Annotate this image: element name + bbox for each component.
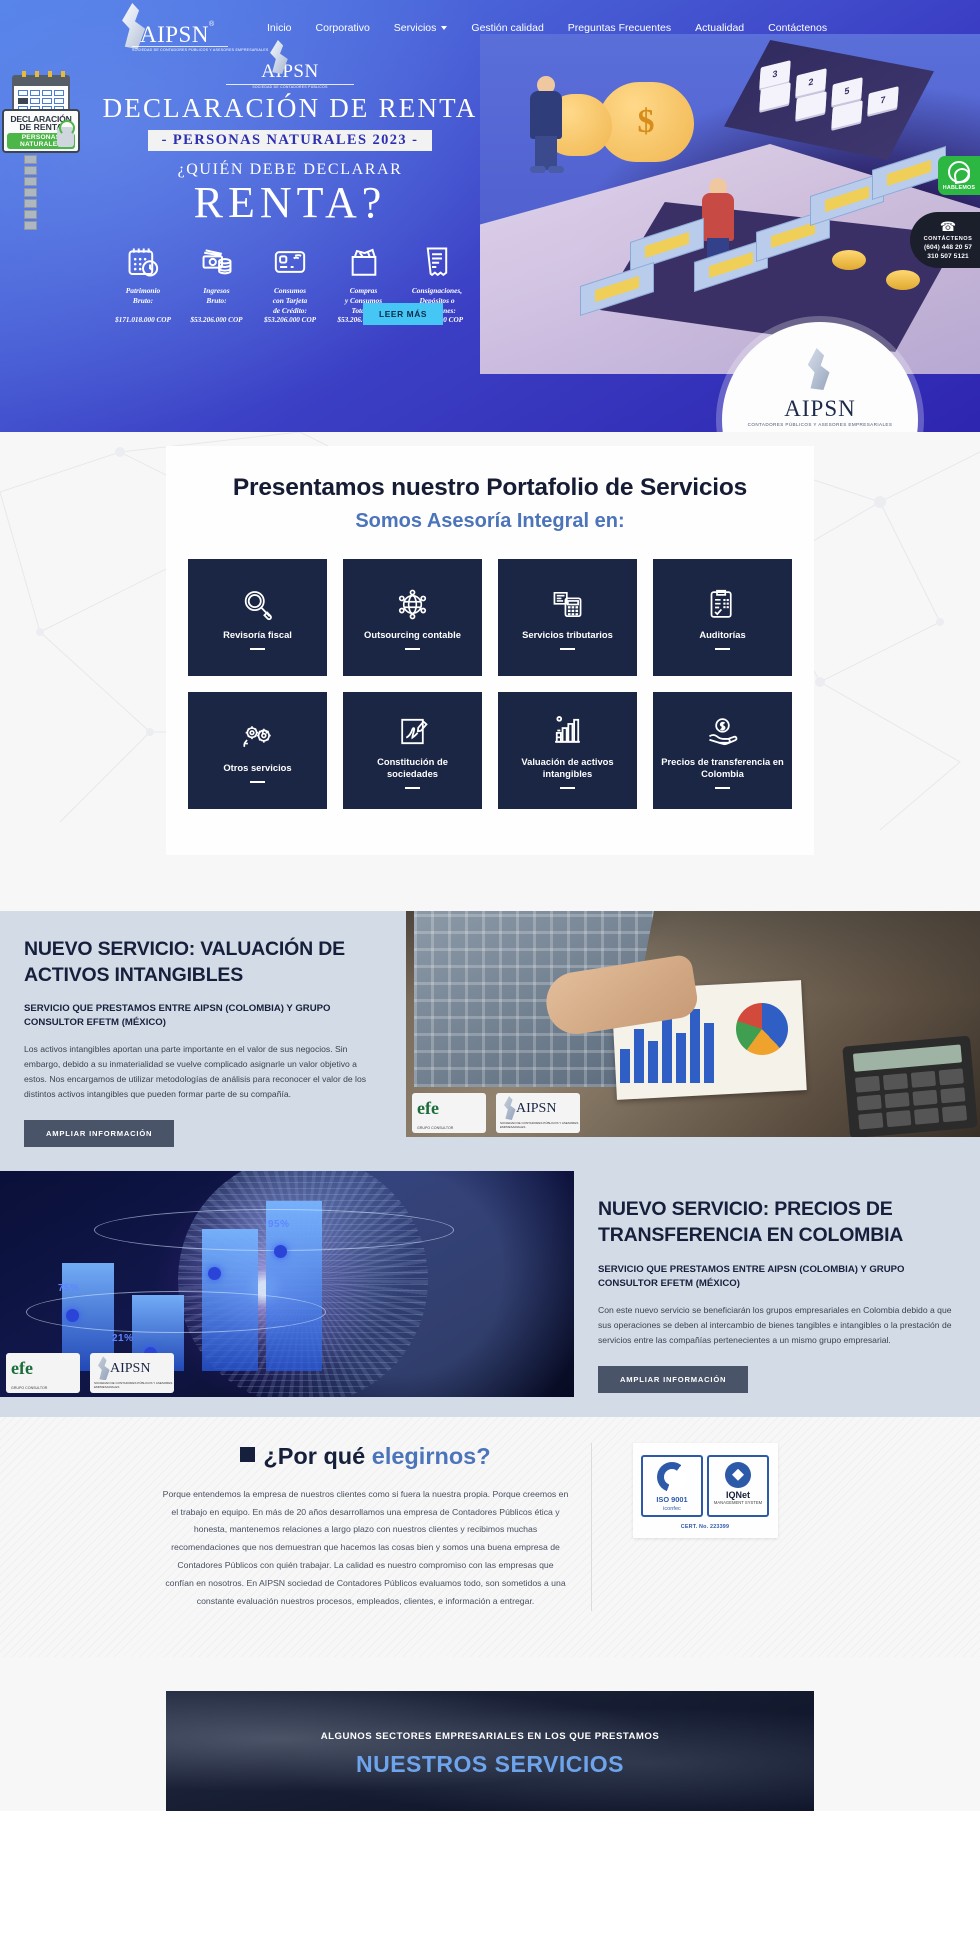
meeting-charts-photo: efe GRUPO CONSULTOR AIPSN SOCIEDAD DE CO…: [406, 911, 980, 1137]
chevron-down-icon: [441, 26, 447, 30]
new-service-kicker: SERVICIO QUE PRESTAMOS ENTRE AIPSN (COLO…: [24, 1002, 380, 1030]
signed-document-icon: [396, 712, 429, 752]
nav-label: Gestión calidad: [471, 0, 543, 56]
iqnet-sub-label: MANAGEMENT SYSTEM: [711, 1500, 765, 1505]
service-card-valuacion-de-activos-intangibles[interactable]: Valuación de activos intangibles: [498, 692, 637, 809]
iqnet-mark-icon: [725, 1462, 751, 1488]
nav-item-contactenos[interactable]: Contáctenos: [756, 0, 839, 56]
efe-logo-text: efe: [417, 1098, 439, 1119]
contact-title: CONTÁCTENOS: [920, 236, 976, 242]
declaracion-renta-badge[interactable]: DECLARACIÓN DE RENTA PERSONAS NATURALES: [2, 75, 80, 232]
portfolio-card: Presentamos nuestro Portafolio de Servic…: [166, 446, 814, 855]
calc-key: 7: [867, 86, 898, 115]
bar-chart-icon: [551, 712, 584, 752]
criteria-label: PatrimonioBruto:: [110, 286, 176, 306]
nav-item-servicios[interactable]: Servicios: [382, 0, 460, 56]
iqnet-box: IQNet MANAGEMENT SYSTEM: [707, 1455, 769, 1517]
portfolio-section: Presentamos nuestro Portafolio de Servic…: [0, 432, 980, 911]
service-label: Servicios tributarios: [522, 629, 613, 641]
magnifier-icon: [241, 585, 274, 625]
contact-phone-1[interactable]: (604) 448 20 57: [920, 244, 976, 251]
network-globe-icon: [396, 585, 429, 625]
service-card-revisoria-fiscal[interactable]: Revisoría fiscal: [188, 559, 327, 676]
service-underline: [405, 787, 420, 789]
money-bag-icon: $: [598, 82, 694, 162]
gears-people-icon: [241, 718, 274, 758]
cash-coins-icon: [184, 240, 250, 284]
iqnet-label: IQNet: [711, 1490, 765, 1500]
credit-card-icon: [257, 240, 323, 284]
contact-float-panel[interactable]: ☎ CONTÁCTENOS (604) 448 20 57 310 507 51…: [910, 212, 980, 268]
service-card-constitucion-de-sociedades[interactable]: Constitución de sociedades: [343, 692, 482, 809]
service-label: Auditorías: [699, 629, 745, 641]
services-grid: Revisoría fiscal Outsourcing contable: [188, 559, 792, 809]
service-label: Otros servicios: [223, 762, 291, 774]
service-underline: [405, 648, 420, 650]
criteria-amount: $53.206.000 COP: [184, 316, 250, 324]
service-underline: [250, 648, 265, 650]
circle-logo-name: AIPSN: [722, 396, 918, 422]
hero-logo-name: AIPSN: [140, 61, 440, 83]
ampliar-informacion-button[interactable]: AMPLIAR INFORMACIÓN: [598, 1366, 748, 1393]
why-us-inner: ¿Por qué elegirnos? Porque entendemos la…: [162, 1443, 818, 1611]
aipsn-logo-text: AIPSN: [516, 1101, 556, 1117]
sectors-section: ALGUNOS SECTORES EMPRESARIALES EN LOS QU…: [0, 1657, 980, 1811]
clipboard-check-icon: [706, 585, 739, 625]
photo-pct-label: 95%: [268, 1219, 290, 1230]
hero-logo-sub: SOCIEDAD DE CONTADORES PÚBLICOS: [140, 85, 440, 89]
efe-logo: efe GRUPO CONSULTOR: [412, 1093, 486, 1133]
iso-badge-row: ISO 9001 iconfec IQNet MANAGEMENT SYSTEM: [641, 1455, 770, 1517]
sectors-kicker: ALGUNOS SECTORES EMPRESARIALES EN LOS QU…: [166, 1691, 814, 1742]
coin-icon: [832, 250, 866, 270]
why-us-section: ¿Por qué elegirnos? Porque entendemos la…: [0, 1417, 980, 1657]
nav-item-gestion-calidad[interactable]: Gestión calidad: [459, 0, 555, 56]
calculator-document-icon: [551, 585, 584, 625]
top-navigation: AIPSN ® SOCIEDAD DE CONTADORES PÚBLICOS …: [0, 0, 980, 56]
nav-menu: Inicio Corporativo Servicios Gestión cal…: [255, 0, 839, 56]
nav-label: Inicio: [267, 0, 292, 56]
why-us-text-column: ¿Por qué elegirnos? Porque entendemos la…: [162, 1443, 592, 1611]
service-underline: [715, 787, 730, 789]
sectors-title: NUESTROS SERVICIOS: [166, 1751, 814, 1778]
photo-logo-row: efe GRUPO CONSULTOR AIPSN SOCIEDAD DE CO…: [412, 1093, 580, 1133]
badge-plate: DECLARACIÓN DE RENTA PERSONAS NATURALES: [2, 109, 80, 153]
service-underline: [560, 787, 575, 789]
why-us-heading-dark: ¿Por qué: [263, 1443, 371, 1469]
service-label: Constitución de sociedades: [351, 756, 474, 780]
nav-item-corporativo[interactable]: Corporativo: [304, 0, 382, 56]
film-strip-decoration: [24, 155, 37, 230]
aipsn-logo-text: AIPSN: [110, 1361, 150, 1377]
service-underline: [250, 781, 265, 783]
criteria-amount: $171.018.000 COP: [110, 316, 176, 324]
new-service-kicker: SERVICIO QUE PRESTAMOS ENTRE AIPSN (COLO…: [598, 1263, 954, 1291]
brand-registered-icon: ®: [209, 21, 214, 28]
criteria-label: Consumoscon Tarjetade Crédito:: [257, 286, 323, 316]
efe-logo-sub: GRUPO CONSULTOR: [11, 1386, 47, 1390]
square-bullet-icon: [240, 1447, 255, 1462]
contact-phone-2[interactable]: 310 507 5121: [920, 253, 976, 260]
why-us-heading-accent: elegirnos?: [372, 1443, 491, 1469]
nav-label: Actualidad: [695, 0, 744, 56]
service-label: Valuación de activos intangibles: [506, 756, 629, 780]
leer-mas-button[interactable]: LEER MÁS: [363, 303, 443, 325]
iso-body-label: iconfec: [645, 1506, 699, 1512]
new-service-heading: NUEVO SERVICIO: VALUACIÓN DE ACTIVOS INT…: [24, 937, 380, 988]
cursor-hand-icon: [57, 127, 74, 147]
iso-certification-badge: ISO 9001 iconfec IQNet MANAGEMENT SYSTEM…: [633, 1443, 778, 1538]
brand-name: AIPSN: [140, 22, 209, 48]
new-service-body: Con este nuevo servicio se beneficiarán …: [598, 1303, 954, 1348]
photo-pct-label: 21%: [112, 1333, 134, 1344]
nav-label: Corporativo: [316, 0, 370, 56]
nav-label: Preguntas Frecuentes: [568, 0, 671, 56]
hero-banner: 3 2 5 7 $ AIPSN CONTADORES PÚBLIC: [0, 0, 980, 432]
service-card-outsourcing-contable[interactable]: Outsourcing contable: [343, 559, 482, 676]
aipsn-mark-icon: [803, 348, 837, 390]
nav-item-inicio[interactable]: Inicio: [255, 0, 304, 56]
brand-tagline: SOCIEDAD DE CONTADORES PÚBLICOS Y ASESOR…: [132, 48, 268, 52]
portfolio-title: Presentamos nuestro Portafolio de Servic…: [188, 474, 792, 502]
nav-item-preguntas-frecuentes[interactable]: Preguntas Frecuentes: [556, 0, 683, 56]
hero-big-word: RENTA?: [0, 177, 580, 228]
iso-9001-box: ISO 9001 iconfec: [641, 1455, 703, 1517]
whatsapp-label: HABLEMOS: [940, 185, 978, 191]
efe-logo: efe GRUPO CONSULTOR: [6, 1353, 80, 1393]
globe-bars-photo: 75% 21% 95% efe GRUPO CONSULTOR AIPSN SO…: [0, 1171, 574, 1397]
criteria-column: Consumoscon Tarjetade Crédito:: [257, 240, 323, 316]
new-service-heading: NUEVO SERVICIO: PRECIOS DE TRANSFERENCIA…: [598, 1197, 954, 1248]
criteria-column: PatrimonioBruto:: [110, 240, 176, 316]
shopping-bag-icon: [331, 240, 397, 284]
service-label: Outsourcing contable: [364, 629, 461, 641]
aipsn-logo-sub: SOCIEDAD DE CONTADORES PÚBLICOS Y ASESOR…: [94, 1381, 174, 1389]
service-card-precios-de-transferencia[interactable]: Precios de transferencia en Colombia: [653, 692, 792, 809]
new-service-text: NUEVO SERVICIO: VALUACIÓN DE ACTIVOS INT…: [0, 911, 406, 1171]
service-underline: [560, 648, 575, 650]
service-label: Precios de transferencia en Colombia: [661, 756, 784, 780]
criteria-amount: $53.206.000 COP: [257, 316, 323, 324]
service-card-servicios-tributarios[interactable]: Servicios tributarios: [498, 559, 637, 676]
why-us-heading: ¿Por qué elegirnos?: [162, 1443, 569, 1470]
hand-dollar-icon: [706, 712, 739, 752]
new-service-body: Los activos intangibles aportan una part…: [24, 1042, 380, 1102]
photo-pct-label: 75%: [58, 1283, 80, 1294]
iso-cert-number: CERT. No. 223399: [641, 1524, 770, 1530]
iso-standard-label: ISO 9001: [645, 1495, 699, 1504]
new-service-text: NUEVO SERVICIO: PRECIOS DE TRANSFERENCIA…: [574, 1171, 980, 1416]
aipsn-logo: AIPSN SOCIEDAD DE CONTADORES PÚBLICOS Y …: [496, 1093, 580, 1133]
brand-divider: [132, 46, 228, 47]
site-brand-logo[interactable]: AIPSN ® SOCIEDAD DE CONTADORES PÚBLICOS …: [110, 2, 240, 54]
new-service-precios-block: 75% 21% 95% efe GRUPO CONSULTOR AIPSN SO…: [0, 1171, 980, 1416]
receipt-icon: [404, 240, 470, 284]
photo-pie-chart: [736, 1003, 788, 1055]
service-label: Revisoría fiscal: [223, 629, 292, 641]
service-underline: [715, 648, 730, 650]
criteria-label: IngresosBruto:: [184, 286, 250, 306]
circle-logo-sub: CONTADORES PÚBLICOS Y ASESORES EMPRESARI…: [722, 422, 918, 427]
aipsn-logo: AIPSN SOCIEDAD DE CONTADORES PÚBLICOS Y …: [90, 1353, 174, 1393]
coin-icon: [886, 270, 920, 290]
nav-label: Contáctenos: [768, 0, 827, 56]
service-card-auditorias[interactable]: Auditorías: [653, 559, 792, 676]
dollar-sign-icon: $: [638, 103, 655, 141]
sectors-banner: ALGUNOS SECTORES EMPRESARIALES EN LOS QU…: [166, 1691, 814, 1811]
nav-item-actualidad[interactable]: Actualidad: [683, 0, 756, 56]
whatsapp-float-button[interactable]: HABLEMOS: [938, 156, 980, 195]
criteria-column: IngresosBruto:: [184, 240, 250, 316]
hero-subtitle-band: - PERSONAS NATURALES 2023 -: [148, 130, 433, 151]
ampliar-informacion-button[interactable]: AMPLIAR INFORMACIÓN: [24, 1120, 174, 1147]
calendar-clock-icon: [110, 240, 176, 284]
new-service-valuacion-block: NUEVO SERVICIO: VALUACIÓN DE ACTIVOS INT…: [0, 911, 980, 1171]
photo-calculator: [842, 1036, 978, 1137]
service-card-otros-servicios[interactable]: Otros servicios: [188, 692, 327, 809]
iso-swirl-icon: [657, 1462, 687, 1492]
efe-logo-text: efe: [11, 1358, 33, 1379]
certification-column: ISO 9001 iconfec IQNet MANAGEMENT SYSTEM…: [592, 1443, 818, 1611]
hero-title: DECLARACIÓN DE RENTA: [0, 93, 580, 124]
phone-icon: ☎: [920, 220, 976, 233]
efe-logo-sub: GRUPO CONSULTOR: [417, 1126, 453, 1130]
nav-label: Servicios: [394, 0, 437, 56]
aipsn-logo-sub: SOCIEDAD DE CONTADORES PÚBLICOS Y ASESOR…: [500, 1121, 580, 1129]
photo-logo-row: efe GRUPO CONSULTOR AIPSN SOCIEDAD DE CO…: [6, 1353, 174, 1393]
why-us-body: Porque entendemos la empresa de nuestros…: [162, 1486, 569, 1611]
whatsapp-icon: [948, 161, 970, 183]
portfolio-subtitle: Somos Asesoría Integral en:: [188, 510, 792, 533]
hero-headline-block: AIPSN SOCIEDAD DE CONTADORES PÚBLICOS DE…: [0, 40, 580, 228]
